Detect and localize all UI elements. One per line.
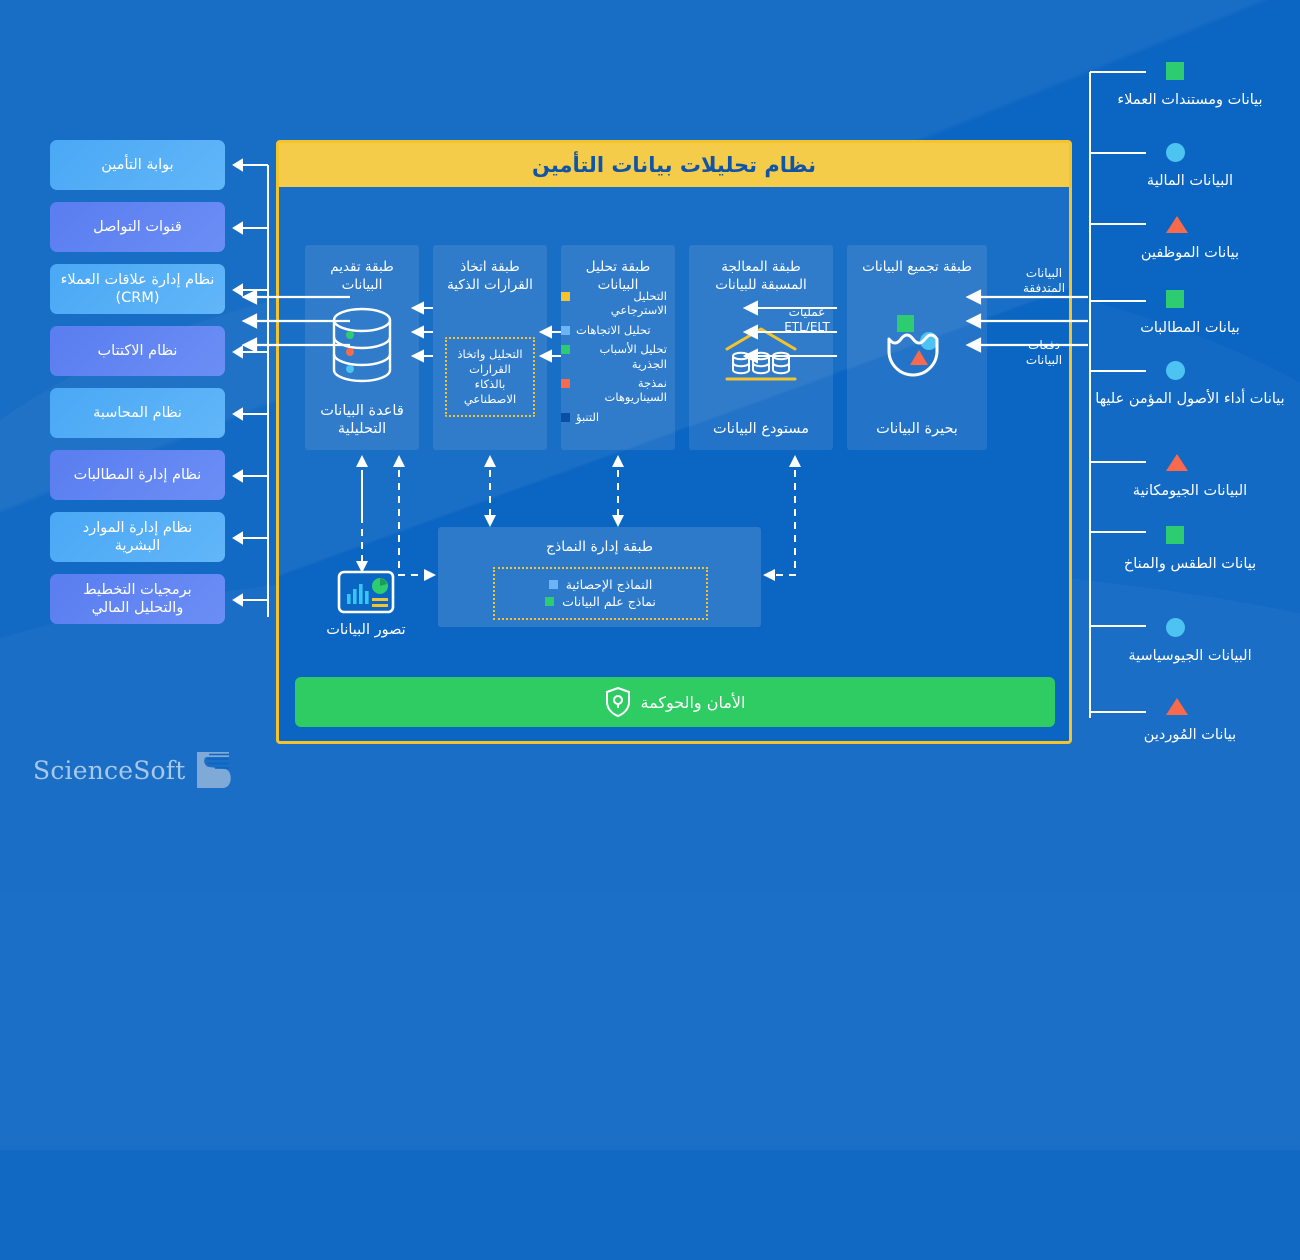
layer-title: طبقة تحليل البيانات (561, 245, 675, 294)
streaming-data-label: البيانات المتدفقة (996, 266, 1092, 296)
brand-name: ScienceSoft (33, 756, 186, 785)
system-label: نظام إدارة المطالبات (74, 466, 202, 484)
system-label: بوابة التأمين (101, 156, 173, 174)
circle-marker-icon (1166, 618, 1185, 637)
model-layer-title: طبقة إدارة النماذج (438, 527, 761, 555)
system-box-accounting[interactable]: نظام المحاسبة (50, 388, 225, 438)
layer-title: طبقة اتخاذ القرارات الذكية (433, 245, 547, 294)
legend-label: تحليل الاتجاهات (576, 323, 651, 337)
data-visualization-block[interactable]: تصور البيانات (311, 570, 421, 638)
model-item: نماذج علم البيانات (505, 594, 696, 609)
square-marker-icon (1166, 526, 1184, 544)
security-governance-bar[interactable]: الأمان والحوكمة (295, 677, 1055, 727)
legend-item: التحليل الاسترجاعي (561, 289, 667, 318)
system-box-crm[interactable]: نظام إدارة علاقات العملاء (CRM) (50, 264, 225, 314)
data-source-label: البيانات المالية (1090, 173, 1290, 191)
legend-label: تحليل الأسباب الجذرية (576, 342, 667, 371)
analysis-legend: التحليل الاسترجاعي تحليل الاتجاهات تحليل… (561, 289, 667, 429)
layer-intelligent-decision[interactable]: طبقة اتخاذ القرارات الذكية التحليل واتخا… (433, 245, 547, 450)
system-label: برمجيات التخطيط والتحليل المالي (60, 581, 215, 617)
legend-label: نمذجة السيناريوهات (576, 376, 667, 405)
system-label: نظام إدارة الموارد البشرية (60, 519, 215, 555)
system-box-hr-management[interactable]: نظام إدارة الموارد البشرية (50, 512, 225, 562)
model-swatch-icon (549, 580, 558, 589)
etl-process-label: عمليات ETL/ELT (761, 305, 853, 335)
layer-preprocessing[interactable]: طبقة المعالجة المسبقة للبيانات مستودع (689, 245, 833, 450)
data-sources-column: بيانات ومستندات العملاء البيانات المالية… (1090, 48, 1300, 768)
system-box-communication-channels[interactable]: قنوات التواصل (50, 202, 225, 252)
sciencesoft-logo-icon (195, 748, 235, 792)
model-label: نماذج علم البيانات (562, 594, 656, 609)
batch-label-line2: البيانات (996, 353, 1092, 368)
data-source-label: بيانات المطالبات (1090, 320, 1290, 338)
consuming-systems-column: بوابة التأمين قنوات التواصل نظام إدارة ع… (50, 140, 225, 636)
system-box-claims-management[interactable]: نظام إدارة المطالبات (50, 450, 225, 500)
data-source-label: بيانات ومستندات العملاء (1090, 92, 1290, 110)
system-label: نظام الاكتتاب (98, 342, 178, 360)
streaming-label-line1: البيانات (996, 266, 1092, 281)
legend-swatch-icon (561, 292, 570, 301)
panel-to-systems-arrows (234, 290, 354, 350)
shield-lock-icon (605, 687, 631, 717)
square-marker-icon (1166, 62, 1184, 80)
data-lake-icon (877, 313, 957, 385)
data-source-label: بيانات الطقس والمناخ (1090, 556, 1290, 574)
triangle-marker-icon (1166, 454, 1188, 471)
system-label: نظام المحاسبة (93, 404, 182, 422)
legend-item: نمذجة السيناريوهات (561, 376, 667, 405)
layer-title: طبقة تقديم البيانات (305, 245, 419, 294)
batch-data-label: دفعات البيانات (996, 338, 1092, 368)
legend-swatch-icon (561, 413, 570, 422)
etl-label-line1: عمليات (761, 305, 853, 320)
sciencesoft-logo: ScienceSoft (33, 748, 235, 792)
system-box-underwriting[interactable]: نظام الاكتتاب (50, 326, 225, 376)
layer-caption: قاعدة البيانات التحليلية (305, 402, 419, 438)
layer-model-management[interactable]: طبقة إدارة النماذج النماذج الإحصائية نما… (438, 527, 761, 627)
etl-label-line2: ETL/ELT (761, 320, 853, 335)
data-source-label: البيانات الجيوسياسية (1090, 648, 1290, 666)
layer-title: طبقة المعالجة المسبقة للبيانات (689, 245, 833, 294)
layer-data-analysis[interactable]: طبقة تحليل البيانات التحليل الاسترجاعي ت… (561, 245, 675, 450)
security-label: الأمان والحوكمة (641, 693, 746, 712)
model-item: النماذج الإحصائية (505, 577, 696, 592)
system-label: نظام إدارة علاقات العملاء (CRM) (60, 271, 215, 307)
analytics-system-panel: نظام تحليلات بيانات التأمين طبقة تقديم ا… (276, 140, 1072, 744)
batch-label-line1: دفعات (996, 338, 1092, 353)
visualization-caption: تصور البيانات (311, 622, 421, 638)
square-marker-icon (1166, 290, 1184, 308)
system-box-fpa-software[interactable]: برمجيات التخطيط والتحليل المالي (50, 574, 225, 624)
legend-item: التنبؤ (561, 410, 667, 424)
ai-decision-box: التحليل واتخاذ القرارات بالذكاء الاصطناع… (445, 337, 535, 417)
panel-body: طبقة تقديم البيانات قاعدة البيانات التحل… (279, 187, 1069, 741)
legend-swatch-icon (561, 345, 570, 354)
system-label: قنوات التواصل (93, 218, 182, 236)
data-source-label: بيانات المُوردين (1090, 727, 1290, 745)
page-title: نظام تحليلات بيانات التأمين (279, 143, 1069, 187)
chart-dashboard-icon (337, 570, 395, 614)
legend-item: تحليل الأسباب الجذرية (561, 342, 667, 371)
layer-caption: بحيرة البيانات (847, 420, 987, 438)
circle-marker-icon (1166, 143, 1185, 162)
circle-marker-icon (1166, 361, 1185, 380)
triangle-marker-icon (1166, 698, 1188, 715)
model-label: النماذج الإحصائية (566, 577, 653, 592)
system-box-insurance-portal[interactable]: بوابة التأمين (50, 140, 225, 190)
legend-swatch-icon (561, 326, 570, 335)
data-source-label: بيانات الموظفين (1090, 245, 1290, 263)
layer-title: طبقة تجميع البيانات (847, 245, 987, 277)
ai-decision-label: التحليل واتخاذ القرارات بالذكاء الاصطناع… (457, 347, 523, 407)
data-source-label: بيانات أداء الأصول المؤمن عليها (1090, 391, 1290, 409)
streaming-label-line2: المتدفقة (996, 281, 1092, 296)
triangle-marker-icon (1166, 216, 1188, 233)
data-source-label: البيانات الجيومكانية (1090, 483, 1290, 501)
legend-item: تحليل الاتجاهات (561, 323, 667, 337)
legend-swatch-icon (561, 379, 570, 388)
model-types-box: النماذج الإحصائية نماذج علم البيانات (493, 567, 708, 620)
layer-caption: مستودع البيانات (689, 420, 833, 438)
model-swatch-icon (545, 597, 554, 606)
data-warehouse-icon (721, 327, 801, 385)
legend-label: التنبؤ (576, 410, 599, 424)
legend-label: التحليل الاسترجاعي (576, 289, 667, 318)
